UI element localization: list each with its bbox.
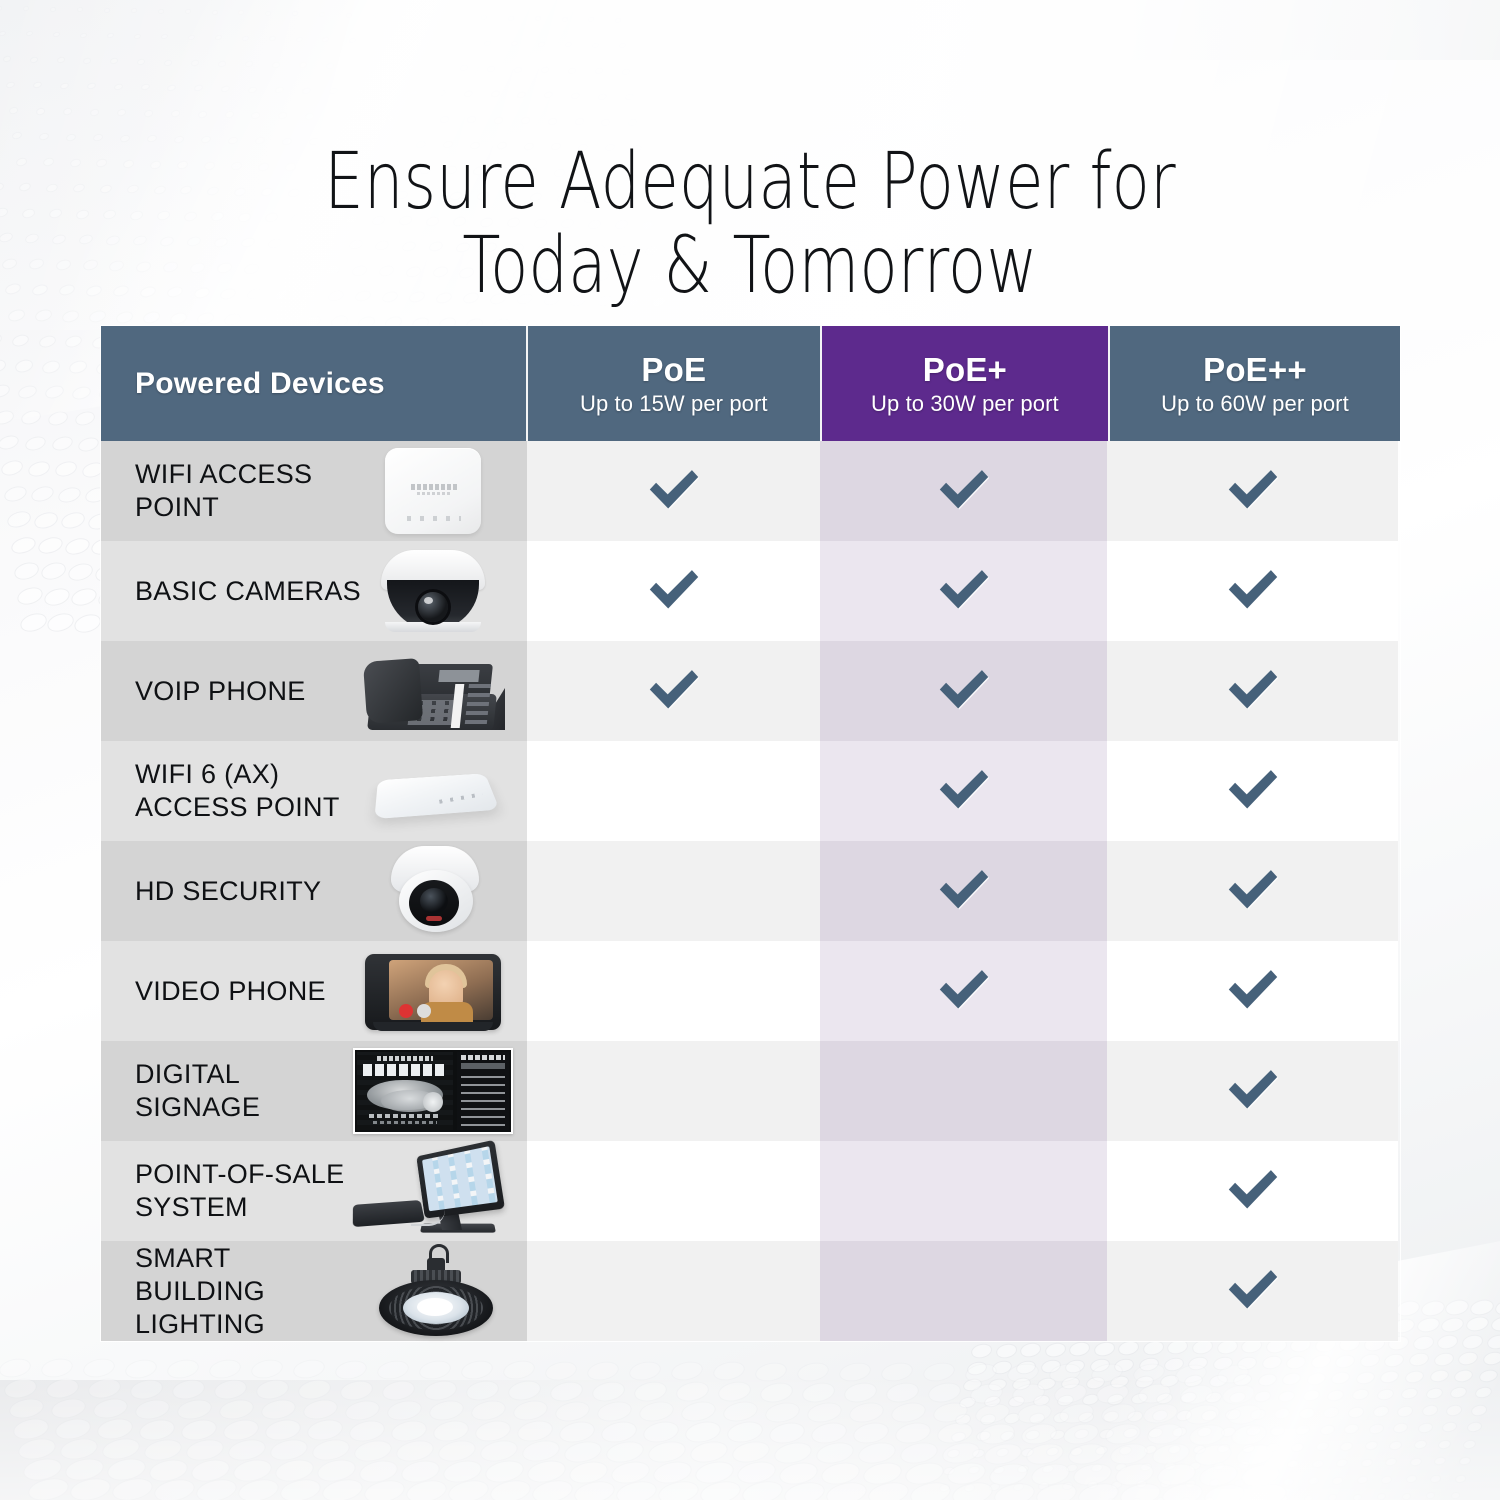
support-cell-poep bbox=[820, 1041, 1107, 1141]
wifi-access-point-image bbox=[347, 444, 517, 538]
page-title-line-1: Ensure Adequate Power for bbox=[324, 137, 1176, 227]
highbay-glow bbox=[417, 1298, 453, 1316]
check-icon bbox=[1222, 1160, 1284, 1222]
support-cell-poep bbox=[820, 1141, 1107, 1241]
check-icon bbox=[933, 960, 995, 1022]
high-bay-light-image bbox=[347, 1244, 517, 1338]
signage-footer-line-1 bbox=[369, 1114, 441, 1118]
signage-price-badge bbox=[423, 1092, 443, 1112]
ap-brand-sub bbox=[417, 492, 450, 495]
device-label: BASIC CAMERAS bbox=[135, 575, 361, 608]
turret-security-camera-image bbox=[347, 844, 517, 938]
device-label: VOIP PHONE bbox=[135, 675, 306, 708]
check-icon bbox=[1222, 560, 1284, 622]
support-cell-poepp bbox=[1107, 1241, 1398, 1341]
column-header-subtitle: Up to 60W per port bbox=[1161, 391, 1349, 417]
support-cell-poepp bbox=[1107, 641, 1398, 741]
support-cell-poe bbox=[527, 841, 820, 941]
support-cell-poep bbox=[820, 741, 1107, 841]
dome-lens-glint bbox=[424, 597, 433, 604]
table-row: WIFI 6 (AX)ACCESS POINT bbox=[101, 741, 1400, 841]
table-body: WIFI ACCESSPOINTBASIC CAMERASVOIP PHONEW… bbox=[101, 441, 1400, 1341]
check-icon bbox=[643, 560, 705, 622]
page-title: Ensure Adequate Power for Today & Tomorr… bbox=[150, 140, 1350, 308]
column-header-title: PoE bbox=[641, 351, 706, 389]
column-header-poep[interactable]: PoE+Up to 30W per port bbox=[820, 326, 1108, 441]
table-row: POINT-OF-SALESYSTEM bbox=[101, 1141, 1400, 1241]
table-row: VIDEO PHONE bbox=[101, 941, 1400, 1041]
signage-menu-title bbox=[461, 1055, 505, 1060]
ap-led-row bbox=[407, 516, 461, 521]
phone-handset bbox=[363, 658, 423, 724]
device-cell: VOIP PHONE bbox=[101, 641, 527, 741]
table-row: HD SECURITY bbox=[101, 841, 1400, 941]
device-label: DIGITAL SIGNAGE bbox=[135, 1058, 365, 1124]
dome-camera-image bbox=[347, 544, 517, 638]
check-icon bbox=[643, 460, 705, 522]
support-cell-poe bbox=[527, 1141, 820, 1241]
support-cell-poe bbox=[527, 641, 820, 741]
support-cell-poepp bbox=[1107, 1141, 1398, 1241]
device-cell: DIGITAL SIGNAGE bbox=[101, 1041, 527, 1141]
support-cell-poep bbox=[820, 641, 1107, 741]
support-cell-poe bbox=[527, 741, 820, 841]
column-header-title: PoE+ bbox=[923, 351, 1007, 389]
table-row: SMART BUILDINGLIGHTING bbox=[101, 1241, 1400, 1341]
device-cell: WIFI ACCESSPOINT bbox=[101, 441, 527, 541]
check-icon bbox=[643, 660, 705, 722]
column-header-poepp[interactable]: PoE++Up to 60W per port bbox=[1108, 326, 1400, 441]
support-cell-poepp bbox=[1107, 1041, 1398, 1141]
check-icon bbox=[933, 760, 995, 822]
digital-signage-image bbox=[347, 1044, 517, 1138]
support-cell-poepp bbox=[1107, 941, 1398, 1041]
support-cell-poe bbox=[527, 1241, 820, 1341]
check-icon bbox=[933, 560, 995, 622]
signage-menu-subbar bbox=[461, 1063, 505, 1069]
column-header-subtitle: Up to 15W per port bbox=[580, 391, 768, 417]
support-cell-poep bbox=[820, 941, 1107, 1041]
device-label: WIFI ACCESSPOINT bbox=[135, 458, 312, 524]
turret-lens bbox=[420, 888, 448, 914]
check-icon bbox=[1222, 660, 1284, 722]
phone-side-keys bbox=[465, 682, 491, 724]
video-phone-image bbox=[347, 944, 517, 1038]
signage-footer-line-2 bbox=[373, 1121, 437, 1124]
table-row: VOIP PHONE bbox=[101, 641, 1400, 741]
ap-body bbox=[385, 448, 481, 534]
support-cell-poe bbox=[527, 541, 820, 641]
support-cell-poe bbox=[527, 441, 820, 541]
column-header-poe[interactable]: PoEUp to 15W per port bbox=[526, 326, 820, 441]
device-label: POINT-OF-SALESYSTEM bbox=[135, 1158, 344, 1224]
support-cell-poe bbox=[527, 941, 820, 1041]
video-phone-foot bbox=[373, 1022, 493, 1031]
support-cell-poepp bbox=[1107, 441, 1398, 541]
table-row: WIFI ACCESSPOINT bbox=[101, 441, 1400, 541]
support-cell-poep bbox=[820, 1241, 1107, 1341]
table-row: DIGITAL SIGNAGE bbox=[101, 1041, 1400, 1141]
turret-ir-led bbox=[426, 916, 442, 921]
device-label: SMART BUILDINGLIGHTING bbox=[135, 1242, 365, 1341]
support-cell-poepp bbox=[1107, 841, 1398, 941]
support-cell-poep bbox=[820, 441, 1107, 541]
background-sheen-bottom bbox=[0, 1370, 1500, 1500]
page-title-line-2: Today & Tomorrow bbox=[150, 224, 1350, 308]
support-cell-poepp bbox=[1107, 741, 1398, 841]
device-cell: WIFI 6 (AX)ACCESS POINT bbox=[101, 741, 527, 841]
end-call-button-icon bbox=[399, 1004, 413, 1018]
support-cell-poep bbox=[820, 541, 1107, 641]
table-row: BASIC CAMERAS bbox=[101, 541, 1400, 641]
table-header-row: Powered DevicesPoEUp to 15W per portPoE+… bbox=[101, 326, 1400, 441]
dome-lens bbox=[418, 592, 448, 622]
support-cell-poep bbox=[820, 841, 1107, 941]
check-icon bbox=[1222, 1060, 1284, 1122]
signage-value-meals-text bbox=[363, 1064, 447, 1076]
check-icon bbox=[1222, 860, 1284, 922]
device-cell: POINT-OF-SALESYSTEM bbox=[101, 1141, 527, 1241]
device-cell: SMART BUILDINGLIGHTING bbox=[101, 1241, 527, 1341]
point-of-sale-system-image bbox=[347, 1144, 517, 1238]
device-cell: BASIC CAMERAS bbox=[101, 541, 527, 641]
check-icon bbox=[1222, 460, 1284, 522]
voip-desk-phone-image bbox=[347, 644, 517, 738]
device-label: VIDEO PHONE bbox=[135, 975, 326, 1008]
phone-display bbox=[438, 670, 479, 682]
support-cell-poepp bbox=[1107, 541, 1398, 641]
ap-brand-mark bbox=[411, 484, 457, 490]
check-icon bbox=[933, 660, 995, 722]
dome-rim bbox=[385, 622, 481, 632]
signage-now-available-text bbox=[377, 1056, 433, 1061]
column-header-title: Powered Devices bbox=[135, 367, 385, 401]
column-header-subtitle: Up to 30W per port bbox=[871, 391, 1059, 417]
column-header-title: PoE++ bbox=[1203, 351, 1307, 389]
device-cell: HD SECURITY bbox=[101, 841, 527, 941]
check-icon bbox=[1222, 1260, 1284, 1322]
device-label: WIFI 6 (AX)ACCESS POINT bbox=[135, 758, 340, 824]
check-icon bbox=[1222, 760, 1284, 822]
device-cell: VIDEO PHONE bbox=[101, 941, 527, 1041]
wifi6-access-point-image bbox=[347, 744, 517, 838]
signage-menu-list bbox=[461, 1072, 505, 1126]
check-icon bbox=[933, 860, 995, 922]
check-icon bbox=[1222, 960, 1284, 1022]
check-icon bbox=[933, 460, 995, 522]
mute-button-icon bbox=[417, 1004, 431, 1018]
device-label: HD SECURITY bbox=[135, 875, 321, 908]
poe-comparison-table: Powered DevicesPoEUp to 15W per portPoE+… bbox=[101, 326, 1400, 1341]
support-cell-poe bbox=[527, 1041, 820, 1141]
column-header-devices[interactable]: Powered Devices bbox=[101, 326, 526, 441]
